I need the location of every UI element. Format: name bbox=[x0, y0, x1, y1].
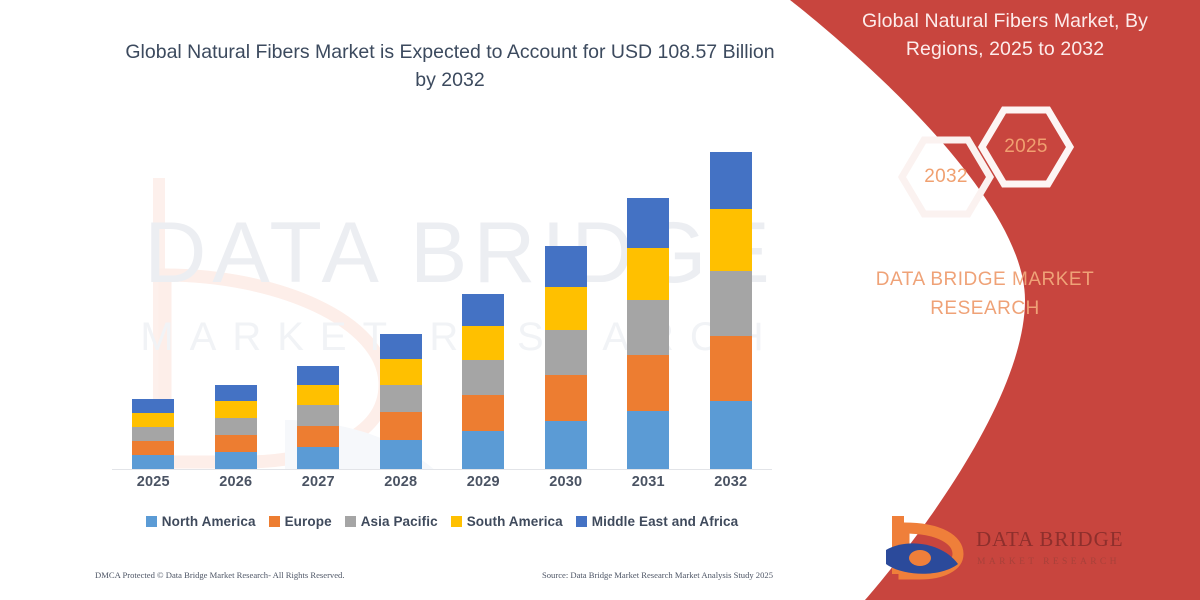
bar-segment-asia-pacific bbox=[710, 271, 752, 336]
legend-label: North America bbox=[162, 514, 256, 529]
bar-segment-north-america bbox=[380, 440, 422, 469]
legend-swatch-icon bbox=[345, 516, 356, 527]
bar-column-2025 bbox=[112, 140, 195, 469]
x-axis-line bbox=[112, 469, 772, 470]
bar-series-group bbox=[112, 140, 772, 469]
bar-segment-south-america bbox=[627, 248, 669, 300]
bar-segment-middle-east-and-africa bbox=[132, 399, 174, 413]
bar-segment-europe bbox=[710, 336, 752, 401]
bar-segment-south-america bbox=[710, 209, 752, 271]
chart-legend: North AmericaEuropeAsia PacificSouth Ame… bbox=[112, 514, 772, 529]
stacked-bar bbox=[462, 294, 504, 469]
bar-column-2027 bbox=[277, 140, 360, 469]
bar-column-2026 bbox=[195, 140, 278, 469]
hexagon-2025: 2025 bbox=[978, 105, 1074, 189]
x-tick-2030: 2030 bbox=[525, 474, 608, 490]
legend-item-asia-pacific[interactable]: Asia Pacific bbox=[345, 514, 438, 529]
svg-text:MARKET RESEARCH: MARKET RESEARCH bbox=[977, 557, 1120, 567]
x-tick-2027: 2027 bbox=[277, 474, 360, 490]
x-tick-2029: 2029 bbox=[442, 474, 525, 490]
bar-segment-north-america bbox=[132, 455, 174, 469]
stacked-bar bbox=[380, 334, 422, 469]
legend-item-middle-east-and-africa[interactable]: Middle East and Africa bbox=[576, 514, 738, 529]
bar-segment-europe bbox=[215, 435, 257, 452]
x-tick-2028: 2028 bbox=[360, 474, 443, 490]
source-note: Source: Data Bridge Market Research Mark… bbox=[542, 570, 795, 580]
bar-segment-asia-pacific bbox=[380, 385, 422, 412]
dmca-notice: DMCA Protected © Data Bridge Market Rese… bbox=[95, 570, 345, 580]
bar-segment-europe bbox=[297, 426, 339, 447]
bar-segment-north-america bbox=[627, 411, 669, 469]
bar-segment-asia-pacific bbox=[462, 360, 504, 395]
bar-segment-asia-pacific bbox=[215, 418, 257, 435]
bar-segment-europe bbox=[132, 441, 174, 455]
bar-segment-south-america bbox=[380, 359, 422, 385]
bar-column-2031 bbox=[607, 140, 690, 469]
svg-text:DATA BRIDGE: DATA BRIDGE bbox=[976, 527, 1124, 551]
right-red-panel: Global Natural Fibers Market, By Regions… bbox=[770, 0, 1200, 600]
dbmr-logo: DATA BRIDGE MARKET RESEARCH bbox=[880, 512, 1130, 584]
bar-segment-europe bbox=[627, 355, 669, 411]
hexagon-2032-label: 2032 bbox=[924, 166, 967, 188]
legend-item-europe[interactable]: Europe bbox=[269, 514, 332, 529]
dbmr-logo-mark-icon: DATA BRIDGE MARKET RESEARCH bbox=[880, 512, 1130, 584]
bar-segment-north-america bbox=[545, 421, 587, 469]
x-tick-2032: 2032 bbox=[690, 474, 773, 490]
bar-column-2030 bbox=[525, 140, 608, 469]
bar-segment-europe bbox=[462, 395, 504, 431]
bar-column-2032 bbox=[690, 140, 773, 469]
bar-segment-asia-pacific bbox=[297, 405, 339, 426]
bar-segment-europe bbox=[380, 412, 422, 440]
stacked-bar bbox=[132, 399, 174, 469]
legend-swatch-icon bbox=[269, 516, 280, 527]
bar-segment-asia-pacific bbox=[627, 300, 669, 355]
bar-segment-north-america bbox=[462, 431, 504, 469]
bar-segment-north-america bbox=[297, 447, 339, 469]
x-axis-tick-labels: 20252026202720282029203020312032 bbox=[112, 474, 772, 490]
x-tick-2025: 2025 bbox=[112, 474, 195, 490]
legend-label: South America bbox=[467, 514, 563, 529]
chart-plot-area bbox=[112, 140, 772, 470]
stacked-bar bbox=[545, 246, 587, 469]
legend-item-south-america[interactable]: South America bbox=[451, 514, 563, 529]
bar-segment-south-america bbox=[132, 413, 174, 427]
bar-segment-south-america bbox=[545, 287, 587, 330]
bar-segment-middle-east-and-africa bbox=[545, 246, 587, 287]
x-tick-2031: 2031 bbox=[607, 474, 690, 490]
panel-title: Global Natural Fibers Market, By Regions… bbox=[830, 8, 1180, 63]
legend-swatch-icon bbox=[451, 516, 462, 527]
bar-column-2028 bbox=[360, 140, 443, 469]
stacked-bar bbox=[627, 198, 669, 469]
infographic-canvas: DATA BRIDGE MARKET RESEARCH Global Natur… bbox=[0, 0, 1200, 600]
stacked-bar bbox=[215, 385, 257, 469]
legend-swatch-icon bbox=[576, 516, 587, 527]
stacked-bar bbox=[297, 366, 339, 469]
legend-label: Asia Pacific bbox=[361, 514, 438, 529]
hexagon-2025-label: 2025 bbox=[1004, 136, 1047, 158]
bar-segment-north-america bbox=[215, 452, 257, 469]
panel-brand-line1: DATA BRIDGE MARKET bbox=[815, 265, 1155, 294]
bar-segment-north-america bbox=[710, 401, 752, 469]
bar-segment-asia-pacific bbox=[132, 427, 174, 441]
bar-segment-middle-east-and-africa bbox=[380, 334, 422, 359]
legend-label: Middle East and Africa bbox=[592, 514, 738, 529]
bar-segment-south-america bbox=[462, 326, 504, 360]
bar-segment-middle-east-and-africa bbox=[462, 294, 504, 326]
legend-swatch-icon bbox=[146, 516, 157, 527]
legend-item-north-america[interactable]: North America bbox=[146, 514, 256, 529]
bar-segment-south-america bbox=[297, 385, 339, 405]
bar-segment-middle-east-and-africa bbox=[710, 152, 752, 209]
bar-segment-middle-east-and-africa bbox=[297, 366, 339, 385]
footer: DMCA Protected © Data Bridge Market Rese… bbox=[95, 570, 795, 580]
hexagon-group: 2032 2025 bbox=[870, 105, 1200, 220]
panel-brand-text: DATA BRIDGE MARKET RESEARCH bbox=[815, 265, 1155, 324]
bar-column-2029 bbox=[442, 140, 525, 469]
page-title: Global Natural Fibers Market is Expected… bbox=[120, 38, 780, 95]
bar-segment-south-america bbox=[215, 401, 257, 418]
legend-label: Europe bbox=[285, 514, 332, 529]
bar-segment-asia-pacific bbox=[545, 330, 587, 375]
stacked-bar bbox=[710, 152, 752, 469]
bar-segment-europe bbox=[545, 375, 587, 421]
panel-brand-line2: RESEARCH bbox=[815, 294, 1155, 323]
x-tick-2026: 2026 bbox=[195, 474, 278, 490]
bar-segment-middle-east-and-africa bbox=[215, 385, 257, 401]
bar-segment-middle-east-and-africa bbox=[627, 198, 669, 248]
